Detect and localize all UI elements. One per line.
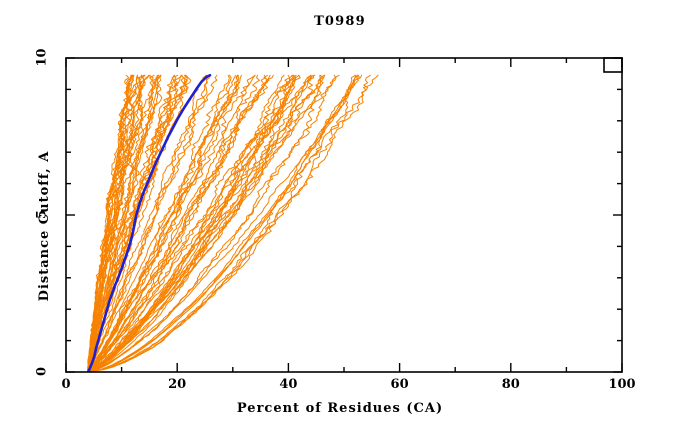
legend-box [604, 58, 622, 72]
model-curve [89, 75, 356, 372]
plot-area [0, 0, 680, 440]
chart-figure: T0989 Distance Cutoff, A Percent of Resi… [0, 0, 680, 440]
model-curve [89, 75, 296, 372]
